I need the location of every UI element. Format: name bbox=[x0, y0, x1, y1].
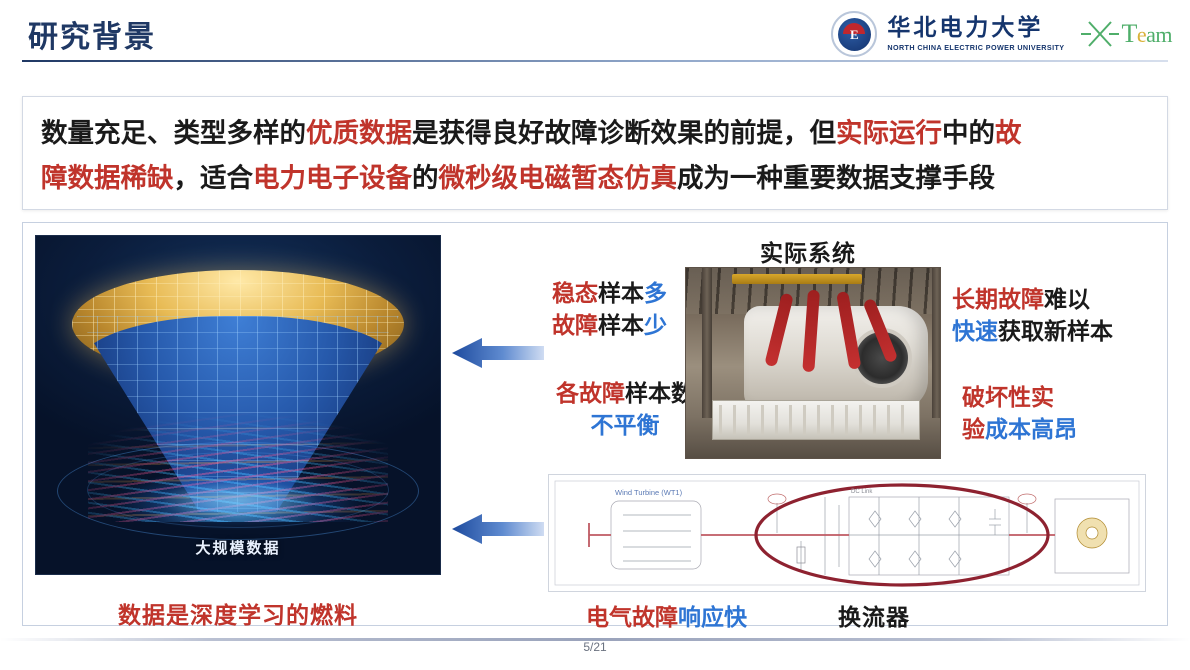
wind-turbine-label: Wind Turbine (WT1) bbox=[615, 488, 683, 497]
x-mark-icon bbox=[1080, 18, 1120, 50]
annotation-fault-imbalance: 各故障样本数不平衡 bbox=[556, 378, 694, 442]
circuit-caption: 电气故障响应快 bbox=[586, 598, 747, 632]
photo-rail-platform bbox=[712, 400, 920, 440]
slide-root: 研究背景 E 华北电力大学 NORTH CHINA ELECTRIC POWER… bbox=[0, 0, 1190, 670]
photo-crane bbox=[732, 274, 862, 284]
logo-group: E 华北电力大学 NORTH CHINA ELECTRIC POWER UNIV… bbox=[831, 6, 1172, 62]
annotation-sample-balance: 稳态样本多故障样本少 bbox=[552, 278, 667, 342]
team-wordmark: Team bbox=[1121, 19, 1172, 49]
university-name-block: 华北电力大学 NORTH CHINA ELECTRIC POWER UNIVER… bbox=[887, 17, 1064, 51]
statement-line-1: 数量充足、类型多样的优质数据是获得良好故障诊断效果的前提，但实际运行中的故 bbox=[41, 111, 1151, 156]
photo-pillar-left bbox=[702, 268, 712, 418]
illustration-inner-caption: 大规模数据 bbox=[36, 537, 440, 558]
university-name-en: NORTH CHINA ELECTRIC POWER UNIVERSITY bbox=[887, 44, 1064, 51]
university-emblem-icon: E bbox=[831, 11, 877, 57]
annotation-destructive-test-cost: 破坏性实验成本高昂 bbox=[962, 382, 1077, 446]
arrow-left-top bbox=[452, 336, 544, 370]
x-team-logo: Team bbox=[1080, 18, 1172, 50]
page-title: 研究背景 bbox=[28, 12, 156, 56]
photo-pillar-right bbox=[932, 268, 940, 418]
statement-line-2: 障数据稀缺，适合电力电子设备的微秒级电磁暂态仿真成为一种重要数据支撑手段 bbox=[41, 156, 1151, 201]
dc-link-label: DC Link bbox=[851, 489, 873, 495]
illustration-glow bbox=[113, 470, 363, 530]
arrow-left-bottom bbox=[452, 512, 544, 546]
slide-header: 研究背景 E 华北电力大学 NORTH CHINA ELECTRIC POWER… bbox=[0, 0, 1190, 70]
page-number: 5/21 bbox=[0, 640, 1190, 654]
university-name-cn: 华北电力大学 bbox=[887, 17, 1064, 40]
converter-hall-photo bbox=[686, 268, 940, 458]
annotation-long-term-fault: 长期故障难以快速获取新样本 bbox=[952, 284, 1113, 348]
big-data-illustration: 大规模数据 bbox=[36, 236, 440, 574]
illustration-outer-caption: 数据是深度学习的燃料 bbox=[36, 596, 440, 630]
emblem-letter: E bbox=[850, 28, 859, 41]
statement-box: 数量充足、类型多样的优质数据是获得良好故障诊断效果的前提，但实际运行中的故 障数… bbox=[22, 96, 1168, 210]
converter-label: 换流器 bbox=[838, 598, 910, 632]
circuit-diagram: Wind Turbine (WT1) DC Link bbox=[548, 474, 1146, 592]
actual-system-label: 实际系统 bbox=[760, 234, 856, 268]
